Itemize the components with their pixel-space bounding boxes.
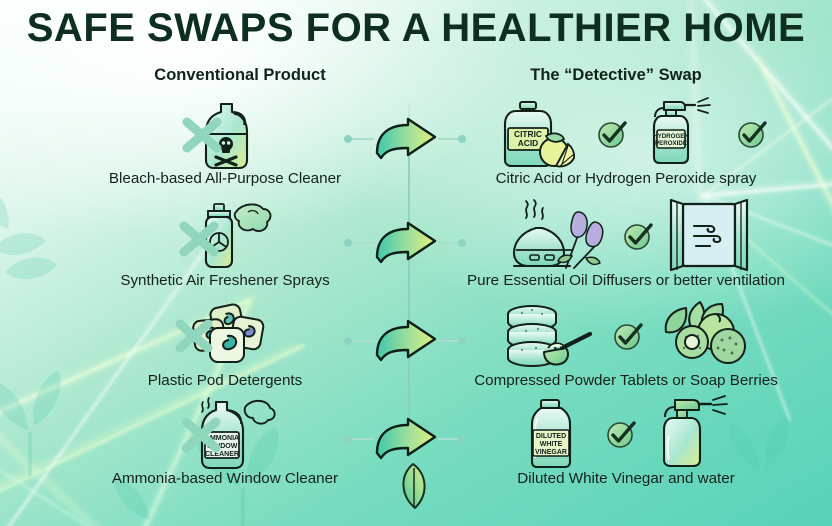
swap-arrow-connector <box>344 318 472 364</box>
swap-cell: Compressed Powder Tablets or Soap Berrie… <box>432 298 820 376</box>
conventional-cell: Bleach-based All-Purpose Cleaner <box>60 96 390 174</box>
swap-arrow-icon <box>374 417 438 461</box>
vinegar-label-line3: VINEGAR <box>535 449 567 456</box>
citric-acid-label-line2: ACID <box>518 138 538 148</box>
swap-cell: Pure Essential Oil Diffusers or better v… <box>432 198 820 276</box>
citric-acid-bottle-icon: CITRIC ACID <box>482 96 586 172</box>
connector-dot <box>344 239 352 247</box>
swap-icons: DILUTED WHITE VINEGAR <box>432 396 820 472</box>
page-title: SAFE SWAPS FOR A HEALTHIER HOME <box>0 6 832 51</box>
swap-arrow-icon <box>374 117 438 161</box>
swap-caption: Compressed Powder Tablets or Soap Berrie… <box>432 372 820 389</box>
conventional-icons: AMMONIA WINDOW CLEANER <box>60 396 390 472</box>
hydrogen-peroxide-label-line1: HYDROGEN <box>653 133 689 140</box>
conventional-icons <box>60 96 390 172</box>
conventional-icons <box>60 298 390 374</box>
connector-dot <box>458 337 466 345</box>
connector-dot <box>344 435 352 443</box>
connector-dot <box>344 135 352 143</box>
vinegar-bottle-icon: DILUTED WHITE VINEGAR <box>507 396 595 472</box>
swap-cell: CITRIC ACID <box>432 96 820 174</box>
swap-icons <box>432 298 820 374</box>
spray-cloud-icon <box>235 204 271 231</box>
conventional-caption: Ammonia-based Window Cleaner <box>60 470 390 487</box>
ammonia-label-line3: CLEANER <box>205 451 239 458</box>
swap-caption: Pure Essential Oil Diffusers or better v… <box>432 272 820 289</box>
swap-caption: Diluted White Vinegar and water <box>432 470 820 487</box>
fume-cloud-icon <box>245 401 275 424</box>
spray-bottle-icon <box>649 396 745 472</box>
swap-icons <box>432 198 820 274</box>
connector-line-left <box>352 340 374 342</box>
connector-dot <box>458 239 466 247</box>
aerosol-can-icon <box>170 198 280 274</box>
conventional-caption: Plastic Pod Detergents <box>60 372 390 389</box>
spray-mist-icon <box>698 98 710 113</box>
open-window-icon <box>666 198 752 274</box>
connector-line-left <box>352 242 374 244</box>
leaf-icon <box>393 462 433 512</box>
connector-line-right <box>438 340 458 342</box>
swap-arrow-icon <box>374 319 438 363</box>
powder-tablets-icon <box>492 298 602 374</box>
check-circle-icon <box>605 417 639 451</box>
swap-icons: CITRIC ACID <box>432 96 820 172</box>
check-circle-icon <box>612 319 646 353</box>
swap-arrow-connector <box>344 416 472 462</box>
connector-dot <box>344 337 352 345</box>
hydrogen-peroxide-spray-icon: HYDROGEN PEROXIDE <box>640 96 726 172</box>
swap-cell: DILUTED WHITE VINEGAR <box>432 396 820 474</box>
detergent-pods-icon <box>166 298 284 374</box>
lavender-sprig-icon <box>558 212 603 268</box>
check-circle-icon <box>622 219 656 253</box>
connector-line-left <box>352 138 374 140</box>
conventional-caption: Bleach-based All-Purpose Cleaner <box>60 170 390 187</box>
check-circle-icon <box>596 117 630 151</box>
conventional-icons <box>60 198 390 274</box>
spray-mist-icon <box>713 396 727 414</box>
swap-arrow-connector <box>344 116 472 162</box>
steam-icon <box>526 200 543 219</box>
conventional-caption: Synthetic Air Freshener Sprays <box>60 272 390 289</box>
conventional-cell: Synthetic Air Freshener Sprays <box>60 198 390 276</box>
connector-dot <box>458 135 466 143</box>
conventional-cell: Plastic Pod Detergents <box>60 298 390 376</box>
infographic-canvas: SAFE SWAPS FOR A HEALTHIER HOME Conventi… <box>0 0 832 526</box>
connector-line-left <box>352 438 374 440</box>
oil-diffuser-icon <box>500 198 612 274</box>
connector-line-right <box>438 242 458 244</box>
hydrogen-peroxide-label-line2: PEROXIDE <box>655 140 687 147</box>
fumes-icon <box>202 398 209 412</box>
vinegar-label-line2: WHITE <box>540 441 563 448</box>
ammonia-bottle-icon: AMMONIA WINDOW CLEANER <box>166 396 284 472</box>
conventional-cell: AMMONIA WINDOW CLEANER Ammonia-based Win… <box>60 396 390 474</box>
connector-line-right <box>438 438 458 440</box>
check-circle-icon <box>736 117 770 151</box>
swap-arrow-icon <box>374 221 438 265</box>
connector-dot <box>458 435 466 443</box>
column-header-conventional: Conventional Product <box>60 66 420 85</box>
swap-arrow-connector <box>344 220 472 266</box>
bleach-jug-icon <box>177 96 273 172</box>
column-header-swap: The “Detective” Swap <box>420 66 812 85</box>
soap-berries-icon <box>656 298 760 374</box>
connector-line-right <box>438 138 458 140</box>
vinegar-label-line1: DILUTED <box>536 433 566 440</box>
swap-caption: Citric Acid or Hydrogen Peroxide spray <box>432 170 820 187</box>
